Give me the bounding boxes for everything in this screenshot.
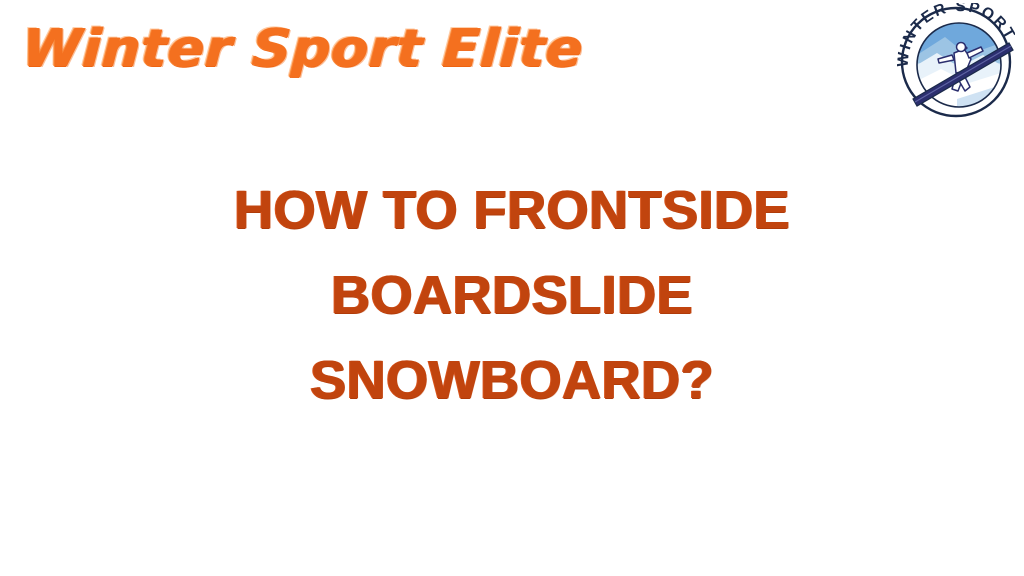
page-title: HOW TO FRONTSIDE BOARDSLIDE SNOWBOARD? bbox=[0, 168, 1024, 423]
winter-sport-badge-logo[interactable]: WINTER SPORT bbox=[897, 3, 1015, 121]
page-title-line-1: HOW TO FRONTSIDE bbox=[0, 168, 1024, 253]
page-root: Winter Sport Elite bbox=[0, 0, 1024, 576]
page-title-line-3: SNOWBOARD? bbox=[0, 338, 1024, 423]
main-content: HOW TO FRONTSIDE BOARDSLIDE SNOWBOARD? bbox=[0, 168, 1024, 423]
page-title-line-2: BOARDSLIDE bbox=[0, 253, 1024, 338]
brand-wordmark[interactable]: Winter Sport Elite bbox=[21, 19, 585, 79]
site-header: Winter Sport Elite bbox=[0, 0, 1024, 125]
